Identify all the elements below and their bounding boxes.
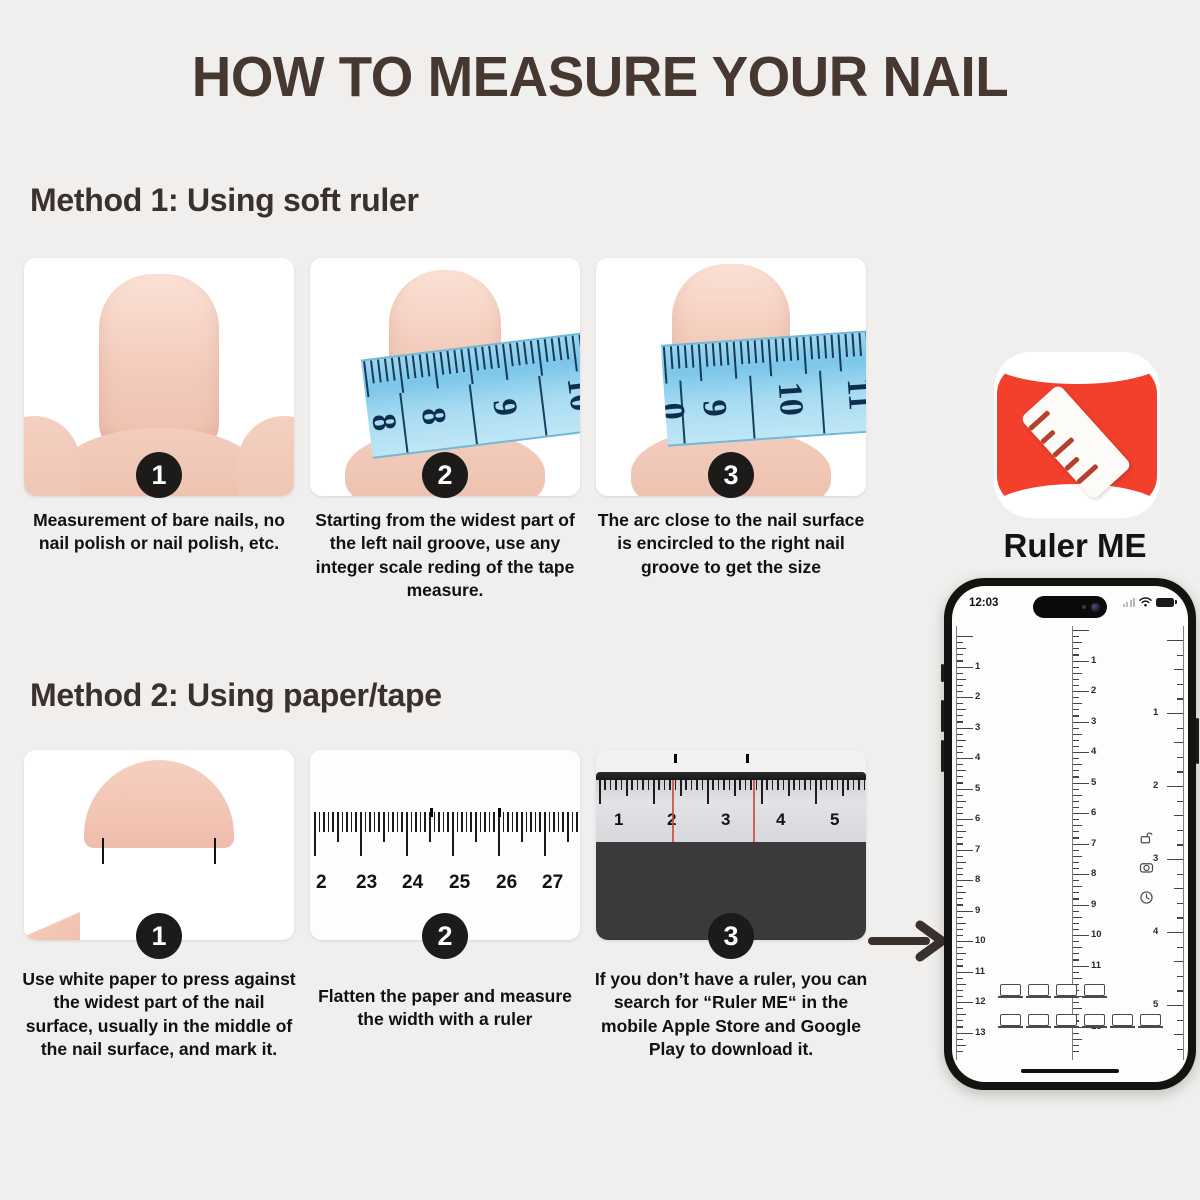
ruler-number: 7 [1091, 838, 1096, 849]
ruler-number: 4 [1091, 746, 1096, 757]
ruler-number: 10 [1091, 929, 1102, 940]
ruler-number: 4 [776, 810, 785, 830]
step-badge: 2 [422, 913, 468, 959]
camera-icon[interactable] [1139, 860, 1154, 875]
ruler-column-left: 12345678910111213 [952, 626, 1004, 1060]
ruler-number: 23 [356, 872, 377, 894]
nail-pressed-on-paper-photo [24, 750, 294, 940]
ruler-ticks [310, 812, 580, 856]
wifi-icon [1139, 597, 1152, 607]
size-pill[interactable] [1084, 1014, 1105, 1026]
ruler-number: 4 [975, 752, 980, 763]
step-badge: 1 [136, 913, 182, 959]
size-pill[interactable] [1000, 1014, 1021, 1026]
size-pill[interactable] [1056, 1014, 1077, 1026]
paper-mark-right [214, 838, 216, 864]
red-guide-right [753, 780, 755, 842]
phone-power-button[interactable] [1196, 718, 1199, 764]
ruler-number: 5 [1091, 777, 1096, 788]
tape-measure: 0 9 10 11 [661, 327, 866, 446]
method-2-step-1-image [24, 750, 294, 940]
paper-ruler-photo: 2 23 24 25 26 27 [310, 750, 580, 940]
status-bar-time: 12:03 [969, 597, 998, 609]
tape-number: 9 [694, 398, 733, 418]
ruler-number: 1 [1091, 655, 1096, 666]
front-camera-icon [1091, 603, 1100, 612]
tape-number: 0 [661, 401, 692, 421]
pencil-mark-left [674, 754, 677, 763]
tape-number: 8 [413, 406, 453, 428]
tape-number: 10 [770, 381, 810, 418]
ruler-me-app-icon[interactable] [994, 352, 1160, 518]
side-finger-right [238, 416, 294, 496]
ruler-number: 6 [1091, 807, 1096, 818]
ruler-number: 11 [975, 966, 985, 977]
unlock-icon[interactable] [1139, 830, 1154, 845]
ruler-number: 1 [614, 810, 623, 830]
tape-number: 9 [484, 397, 524, 419]
ruler-number: 11 [1091, 960, 1101, 971]
method-1-step-3-caption: The arc close to the nail surface is enc… [590, 509, 872, 579]
size-pill[interactable] [1056, 984, 1077, 996]
method-2-step-2-image: 2 23 24 25 26 27 [310, 750, 580, 940]
method-2-heading: Method 2: Using paper/tape [30, 677, 442, 714]
ruler-number: 27 [542, 872, 563, 894]
size-pill[interactable] [1084, 984, 1105, 996]
method-2-step-3-image: 1 2 3 4 5 [596, 750, 866, 940]
cellular-signal-icon [1123, 597, 1136, 607]
size-pill-row-bottom[interactable] [1000, 1014, 1161, 1026]
steel-ruler-ticks [596, 780, 866, 800]
method-2-step-1-caption: Use white paper to press against the wid… [18, 968, 300, 1061]
dynamic-island [1033, 596, 1107, 618]
ruler-number: 2 [1091, 685, 1096, 696]
paper-mark-left [102, 838, 104, 864]
ruler-number: 4 [1153, 926, 1158, 937]
infographic-root: HOW TO MEASURE YOUR NAIL Method 1: Using… [0, 0, 1200, 1200]
size-pill[interactable] [1000, 984, 1021, 996]
status-bar-right [1123, 597, 1175, 607]
ruler-number: 5 [975, 783, 980, 794]
method-1-step-2-caption: Starting from the widest part of the lef… [304, 509, 586, 602]
size-pill[interactable] [1028, 984, 1049, 996]
tape-number: 10 [559, 375, 580, 413]
ruler-number: 1 [1153, 707, 1158, 718]
step-badge: 3 [708, 913, 754, 959]
ruler-number: 5 [830, 810, 839, 830]
nail [99, 274, 219, 454]
ruler-number: 8 [975, 874, 980, 885]
ruler-number: 8 [1091, 868, 1096, 879]
sensor-dot [1082, 605, 1086, 609]
steel-ruler-on-desk-photo: 1 2 3 4 5 [596, 750, 866, 940]
method-2-step-2-caption: Flatten the paper and measure the width … [304, 985, 586, 1032]
ruler-number: 3 [1091, 716, 1096, 727]
method-1-heading: Method 1: Using soft ruler [30, 182, 419, 219]
battery-icon [1156, 598, 1174, 607]
pencil-mark-right [746, 754, 749, 763]
red-guide-left [672, 780, 674, 842]
ruler-number: 12 [975, 996, 986, 1007]
ruler-number: 25 [449, 872, 470, 894]
ruler-number: 5 [1153, 999, 1158, 1010]
ruler-number: 2 [1153, 780, 1158, 791]
home-indicator[interactable] [1021, 1069, 1119, 1073]
size-pill-row-top[interactable] [1000, 984, 1105, 996]
pencil-mark-left [430, 808, 433, 817]
ruler-number: 24 [402, 872, 423, 894]
pencil-mark-right [498, 808, 501, 817]
ruler-number: 9 [975, 905, 980, 916]
ruler-number: 26 [496, 872, 517, 894]
step-badge: 3 [708, 452, 754, 498]
ruler-number: 6 [975, 813, 980, 824]
phone-volume-up[interactable] [941, 700, 944, 732]
size-pill[interactable] [1140, 1014, 1161, 1026]
ruler-number: 2 [316, 872, 327, 894]
ruler-number: 7 [975, 844, 980, 855]
method-1-step-1-caption: Measurement of bare nails, no nail polis… [18, 509, 300, 556]
ruler-number: 13 [975, 1027, 986, 1038]
size-pill[interactable] [1112, 1014, 1133, 1026]
phone-mute-switch[interactable] [941, 664, 944, 682]
app-name-label: Ruler ME [940, 527, 1200, 565]
ruler-number: 10 [975, 935, 986, 946]
ruler-number: 2 [975, 691, 980, 702]
phone-volume-down[interactable] [941, 740, 944, 772]
method-2-step-3-caption: If you don’t have a ruler, you can searc… [590, 968, 872, 1061]
clock-icon[interactable] [1139, 890, 1154, 905]
ruler-number: 1 [975, 661, 980, 672]
ruler-number: 3 [975, 722, 980, 733]
steel-ruler: 1 2 3 4 5 [596, 780, 866, 842]
page-title: HOW TO MEASURE YOUR NAIL [24, 44, 1176, 110]
step-badge: 2 [422, 452, 468, 498]
side-finger-left [24, 416, 80, 496]
tape-number: 11 [839, 377, 866, 412]
phone-screen[interactable]: 12:03 12345678910111213 1234567891011121… [952, 586, 1188, 1082]
nail-edge [84, 760, 234, 848]
tape-number: 8 [363, 412, 403, 434]
ruler-number: 9 [1091, 899, 1096, 910]
phone-mockup: 12:03 12345678910111213 1234567891011121… [944, 578, 1196, 1090]
ruler-number: 3 [721, 810, 730, 830]
step-badge: 1 [136, 452, 182, 498]
size-pill[interactable] [1028, 1014, 1049, 1026]
thumb [24, 900, 80, 940]
